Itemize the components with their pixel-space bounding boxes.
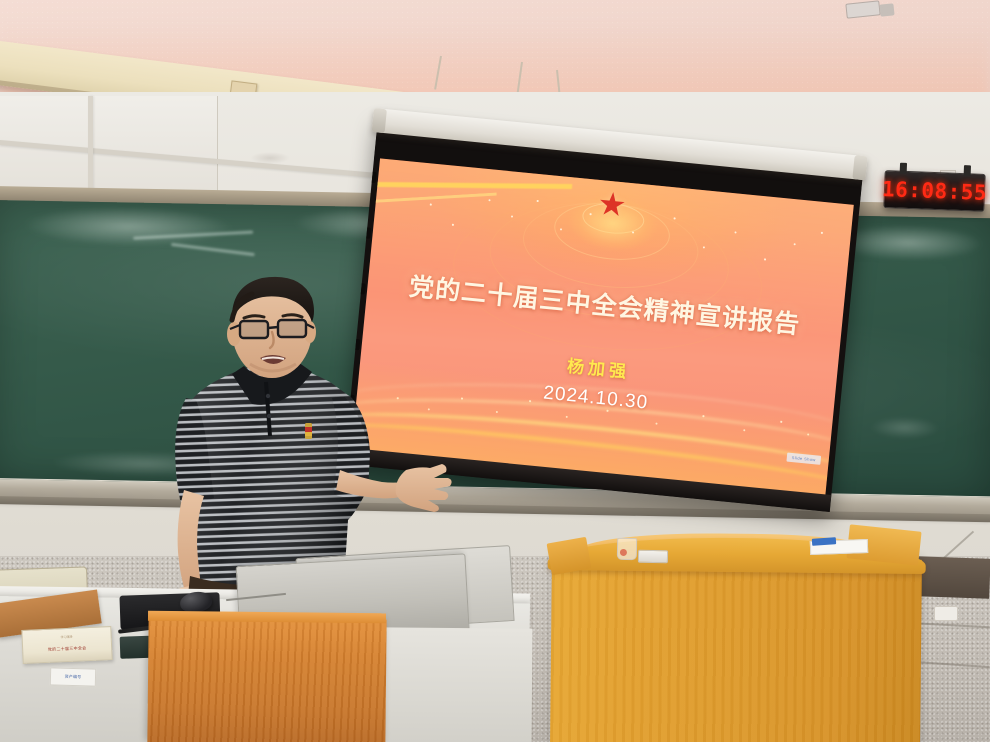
clock-time-display: 16:08:55 bbox=[882, 177, 988, 205]
book-title: 党的二十届三中全会 bbox=[23, 644, 111, 654]
wall-smudge bbox=[250, 152, 290, 164]
ceiling-sensor-icon bbox=[879, 3, 894, 16]
desk-wood-front-panel bbox=[147, 617, 386, 742]
presentation-slide[interactable]: 党的二十届三中全会精神宣讲报告 杨加强 2024.10.30 Slide Sho… bbox=[352, 158, 854, 495]
book[interactable]: 学习辅导 党的二十届三中全会 bbox=[21, 626, 112, 664]
book-subtitle: 学习辅导 bbox=[23, 633, 111, 641]
lectern bbox=[550, 556, 922, 742]
desk-side-panel bbox=[381, 627, 532, 742]
projection-screen[interactable]: 党的二十届三中全会精神宣讲报告 杨加强 2024.10.30 Slide Sho… bbox=[344, 118, 864, 512]
classroom-scene: 党的二十届三中全会精神宣讲报告 杨加强 2024.10.30 Slide Sho… bbox=[0, 0, 990, 742]
wall-power-socket-icon bbox=[934, 606, 958, 621]
cup-holder bbox=[638, 550, 668, 564]
asset-tag-sticker: 资产编号 bbox=[50, 667, 96, 686]
wall-clock: 16:08:55 bbox=[883, 170, 985, 212]
plastic-cup[interactable] bbox=[617, 538, 637, 560]
cup-logo-icon bbox=[620, 549, 627, 556]
lectern-left-wing bbox=[547, 537, 592, 575]
